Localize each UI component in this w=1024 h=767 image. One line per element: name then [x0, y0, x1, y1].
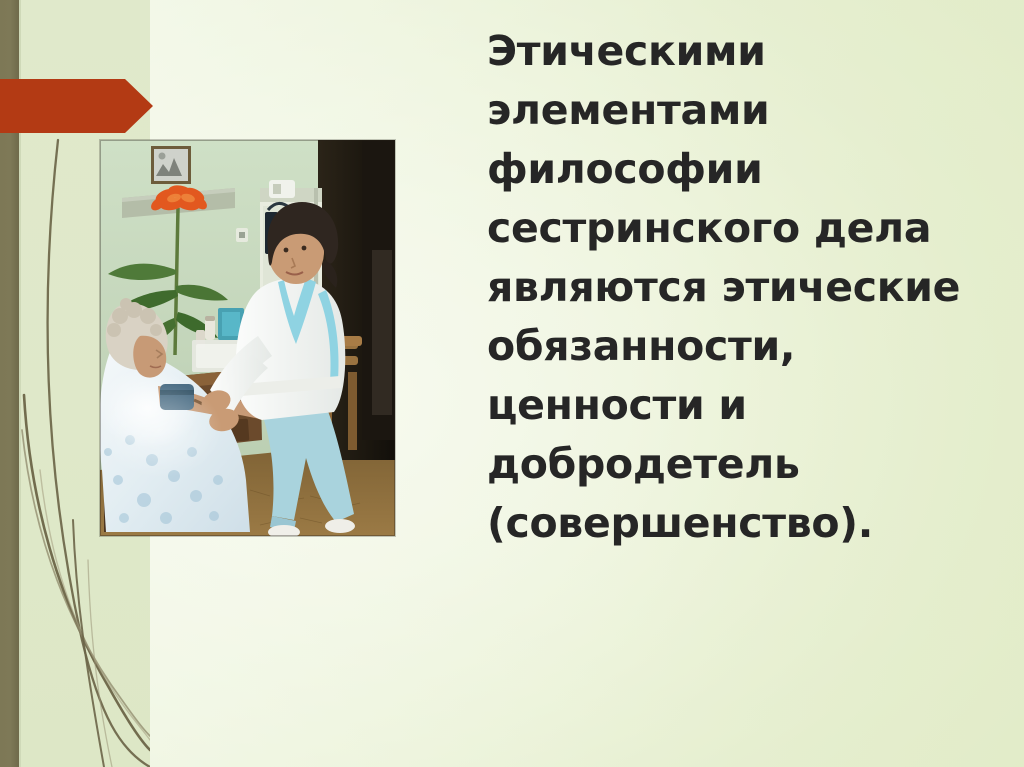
arrow-banner-icon — [0, 79, 153, 133]
text-line: элементами — [487, 81, 987, 140]
text-line: сестринского дела — [487, 199, 987, 258]
text-line: философии — [487, 140, 987, 199]
text-line: Этическими — [487, 22, 987, 81]
photo-scene — [100, 140, 395, 536]
slide-body-text: Этическими элементами философии сестринс… — [487, 22, 987, 553]
presentation-slide: 2011 09:39 Этическими элементами философ… — [0, 0, 1024, 767]
text-line: обязанности, — [487, 317, 987, 376]
text-line: (совершенство). — [487, 494, 987, 553]
text-line: являются этические — [487, 258, 987, 317]
text-line: добродетель — [487, 435, 987, 494]
text-line: ценности и — [487, 376, 987, 435]
slide-photo: 2011 09:39 — [100, 140, 395, 536]
